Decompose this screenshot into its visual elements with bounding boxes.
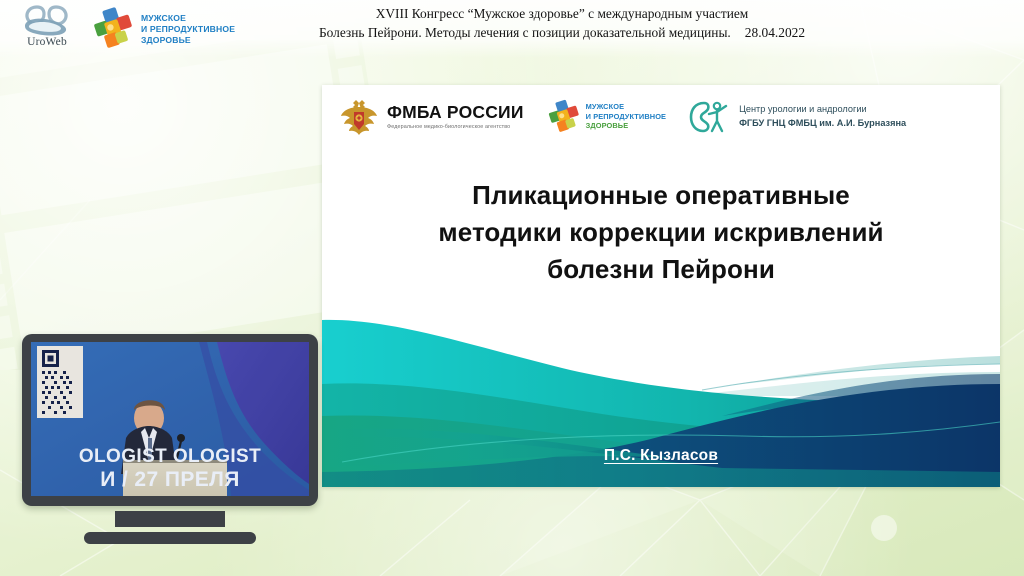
- video-caption-line-2: И / 27 ПРЕЛЯ: [31, 468, 309, 492]
- fmba-subtitle: Федеральное медико-биологическое агентст…: [387, 124, 524, 130]
- slide-mrh-line-1: МУЖСКОЕ: [586, 102, 666, 112]
- congress-topic: Болезнь Пейрони. Методы лечения с позици…: [319, 25, 731, 40]
- slide-mrh-line-2: И РЕПРОДУКТИВНОЕ: [586, 112, 666, 122]
- slide-mrh-wordmark: МУЖСКОЕ И РЕПРОДУКТИВНОЕ ЗДОРОВЬЕ: [586, 102, 666, 131]
- slide-title-line-3: болезни Пейрони: [356, 251, 966, 288]
- monitor-base: [84, 532, 256, 544]
- mrh-line-3: ЗДОРОВЬЕ: [141, 35, 235, 46]
- top-header-bar: UroWeb МУЖСКОЕ И РЕПРОДУКТИВНОЕ ЗДОРОВЬЕ…: [0, 0, 1024, 60]
- slide-title-line-2: методики коррекции искривлений: [356, 214, 966, 251]
- puzzle-piece-icon: [544, 98, 582, 136]
- video-monitor[interactable]: OLOGIST OLOGIST И / 27 ПРЕЛЯ: [22, 334, 318, 544]
- mens-health-wordmark: МУЖСКОЕ И РЕПРОДУКТИВНОЕ ЗДОРОВЬЕ: [141, 13, 235, 46]
- mrh-line-1: МУЖСКОЕ: [141, 13, 235, 24]
- congress-date: 28.04.2022: [745, 25, 805, 40]
- video-screen[interactable]: OLOGIST OLOGIST И / 27 ПРЕЛЯ: [31, 342, 309, 496]
- double-headed-eagle-icon: [338, 96, 380, 138]
- uroweb-wordmark: UroWeb: [8, 36, 86, 48]
- puzzle-piece-icon: [88, 5, 136, 53]
- congress-title-line: XVIII Конгресс “Мужское здоровье” с межд…: [262, 4, 862, 23]
- fmba-wordmark: ФМБА РОССИИ Федеральное медико-биологиче…: [387, 104, 524, 130]
- uroweb-logo: UroWeb: [8, 2, 86, 58]
- centre-line-2: ФГБУ ГНЦ ФМБЦ им. А.И. Бурназяна: [739, 117, 906, 130]
- video-caption-line-1: OLOGIST OLOGIST: [31, 446, 309, 468]
- monitor-neck: [115, 511, 225, 527]
- mens-health-logo: МУЖСКОЕ И РЕПРОДУКТИВНОЕ ЗДОРОВЬЕ: [88, 5, 235, 53]
- fmba-name: ФМБА РОССИИ: [387, 104, 524, 122]
- presentation-slide[interactable]: ФМБА РОССИИ Федеральное медико-биологиче…: [322, 85, 1000, 487]
- mrh-line-2: И РЕПРОДУКТИВНОЕ: [141, 24, 235, 35]
- slide-title: Пликационные оперативные методики коррек…: [322, 177, 1000, 288]
- uroweb-swirl-icon: [17, 2, 77, 38]
- centre-line-1: Центр урологии и андрологии: [739, 103, 906, 116]
- congress-subtitle-line: Болезнь Пейрони. Методы лечения с позици…: [262, 23, 862, 42]
- kidney-person-icon: [688, 97, 732, 137]
- presenter-name: П.С. Кызласов: [322, 447, 1000, 465]
- urology-centre-logo: Центр урологии и андрологии ФГБУ ГНЦ ФМБ…: [688, 97, 906, 137]
- monitor-bezel: OLOGIST OLOGIST И / 27 ПРЕЛЯ: [22, 334, 318, 506]
- slide-mens-health-logo: МУЖСКОЕ И РЕПРОДУКТИВНОЕ ЗДОРОВЬЕ: [544, 98, 666, 136]
- urology-centre-wordmark: Центр урологии и андрологии ФГБУ ГНЦ ФМБ…: [739, 103, 906, 130]
- slide-mrh-line-3: ЗДОРОВЬЕ: [586, 121, 666, 131]
- congress-header-title: XVIII Конгресс “Мужское здоровье” с межд…: [262, 4, 862, 42]
- fmba-logo: ФМБА РОССИИ Федеральное медико-биологиче…: [338, 96, 524, 138]
- slide-title-line-1: Пликационные оперативные: [356, 177, 966, 214]
- slide-logo-header: ФМБА РОССИИ Федеральное медико-биологиче…: [322, 85, 1000, 148]
